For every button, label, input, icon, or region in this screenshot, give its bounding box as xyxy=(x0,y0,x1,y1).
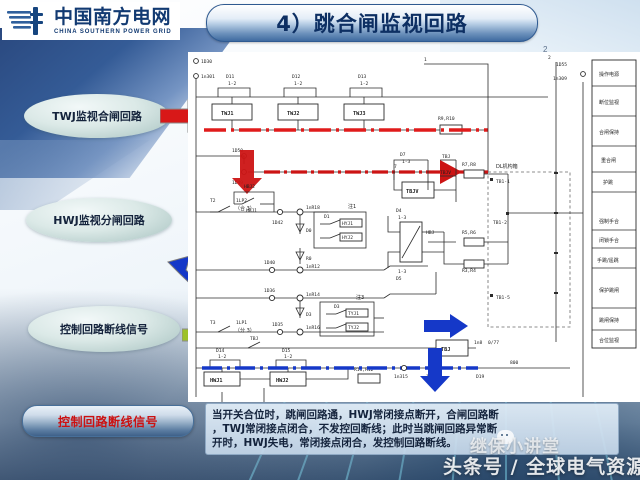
panel-item-6: 闭锁手合 xyxy=(599,237,619,244)
svg-text:R9,R10: R9,R10 xyxy=(438,116,455,122)
svg-text:D11: D11 xyxy=(226,74,235,80)
svg-text:R3,R4: R3,R4 xyxy=(462,268,476,274)
callout-twj: TWJ监视合闸回路 xyxy=(24,94,170,138)
note-line-1: 当开关合位时，跳闸回路通，HWJ常闭接点断开，合闸回路断 xyxy=(212,408,612,422)
svg-text:HBJ2: HBJ2 xyxy=(244,184,255,190)
svg-text:R7,R8: R7,R8 xyxy=(462,162,476,168)
svg-text:800: 800 xyxy=(510,360,519,366)
svg-text:D7: D7 xyxy=(400,152,406,158)
svg-text:TBJ: TBJ xyxy=(441,347,450,353)
svg-text:1n315: 1n315 xyxy=(394,374,408,380)
slide-title: 4）跳合闸监视回路 xyxy=(276,8,468,38)
svg-text:1nR16: 1nR16 xyxy=(306,325,320,331)
svg-text:TBJV: TBJV xyxy=(440,170,451,176)
panel-item-7: 手跳/遥跳 xyxy=(597,257,619,264)
svg-text:1-3: 1-3 xyxy=(402,159,411,165)
svg-text:1LP1: 1LP1 xyxy=(236,320,247,326)
svg-text:TB1-2: TB1-2 xyxy=(493,220,507,226)
svg-text:D0: D0 xyxy=(306,228,312,234)
svg-text:1n301: 1n301 xyxy=(201,74,215,80)
svg-text:7: 7 xyxy=(394,164,397,170)
svg-text:D1: D1 xyxy=(324,214,330,220)
callout-control-break-label: 控制回路断线信号 xyxy=(60,321,148,337)
svg-text:D19: D19 xyxy=(476,374,485,380)
svg-text:1D40: 1D40 xyxy=(264,260,275,266)
svg-text:1-3: 1-3 xyxy=(398,269,407,275)
svg-text:1D42: 1D42 xyxy=(272,220,283,226)
svg-text:TYJ1: TYJ1 xyxy=(348,311,359,317)
svg-text:1-3: 1-3 xyxy=(398,215,407,221)
brand-logo: 中国南方电网 CHINA SOUTHERN POWER GRID xyxy=(2,2,180,40)
svg-text:D13: D13 xyxy=(358,74,367,80)
svg-text:TBJ: TBJ xyxy=(250,336,259,342)
svg-text:（分 3）: （分 3） xyxy=(235,327,255,334)
svg-text:D14: D14 xyxy=(216,348,225,354)
svg-text:1LP2: 1LP2 xyxy=(236,198,247,204)
logo-text-en: CHINA SOUTHERN POWER GRID xyxy=(54,29,172,35)
svg-text:D15: D15 xyxy=(282,348,291,354)
panel-item-2: 合闸保持 xyxy=(599,129,619,136)
circuit-diagram: .w{stroke:#2b2b2b;stroke-width:0.8;fill:… xyxy=(188,52,640,402)
summary-banner: 控制回路断线信号 xyxy=(22,405,194,437)
svg-text:注1: 注1 xyxy=(348,203,356,210)
svg-text:D12: D12 xyxy=(292,74,301,80)
svg-text:1-2: 1-2 xyxy=(218,354,227,360)
svg-text:1nR14: 1nR14 xyxy=(306,292,320,298)
panel-item-1: 断位监视 xyxy=(599,99,619,106)
svg-text:0/77: 0/77 xyxy=(488,340,499,346)
slide-canvas: 中国南方电网 CHINA SOUTHERN POWER GRID 4）跳合闸监视… xyxy=(0,0,640,480)
panel-item-3: 重合闸 xyxy=(601,157,616,164)
callout-hwj: HWJ监视分闸回路 xyxy=(26,198,172,242)
watermark-channel: 头条号 / 全球电气资源 xyxy=(443,452,640,479)
circuit-diagram-svg: .w{stroke:#2b2b2b;stroke-width:0.8;fill:… xyxy=(188,52,640,402)
svg-text:1nR12: 1nR12 xyxy=(306,264,320,270)
svg-text:1D35: 1D35 xyxy=(272,322,283,328)
svg-text:2: 2 xyxy=(548,55,551,61)
svg-text:HYJ1: HYJ1 xyxy=(342,221,353,227)
svg-text:HBJ: HBJ xyxy=(426,230,435,236)
svg-text:1-2: 1-2 xyxy=(228,81,237,87)
logo-text-cn: 中国南方电网 xyxy=(54,8,172,27)
svg-text:TB1-5: TB1-5 xyxy=(496,295,510,301)
svg-text:1-2: 1-2 xyxy=(284,354,293,360)
svg-text:1D30: 1D30 xyxy=(201,59,212,65)
svg-text:TWJ3: TWJ3 xyxy=(353,111,366,117)
svg-text:TWJ2: TWJ2 xyxy=(287,111,300,117)
svg-text:1-2: 1-2 xyxy=(294,81,303,87)
svg-text:1D55: 1D55 xyxy=(556,62,567,68)
svg-text:TWJ1: TWJ1 xyxy=(221,111,234,117)
svg-text:R5,R6: R5,R6 xyxy=(462,230,476,236)
panel-item-8: 保护跳闸 xyxy=(599,287,619,294)
svg-text:1n8: 1n8 xyxy=(474,340,483,346)
svg-text:D5: D5 xyxy=(396,276,402,282)
svg-text:1n309: 1n309 xyxy=(553,76,567,82)
panel-item-9: 跳闸保持 xyxy=(599,317,619,324)
panel-item-10: 合位监视 xyxy=(599,337,619,344)
slide-title-banner: 4）跳合闸监视回路 xyxy=(206,4,538,42)
svg-text:1-2: 1-2 xyxy=(360,81,369,87)
svg-text:TBJV: TBJV xyxy=(406,189,419,195)
svg-text:TYJ2: TYJ2 xyxy=(348,325,359,331)
panel-item-0: 操作电源 xyxy=(599,71,619,78)
callout-hwj-label: HWJ监视分闸回路 xyxy=(53,212,144,228)
svg-text:TBJ: TBJ xyxy=(442,154,451,160)
callout-twj-label: TWJ监视合闸回路 xyxy=(52,108,142,124)
panel-item-4: 护跳 xyxy=(603,179,613,186)
svg-text:D4: D4 xyxy=(396,208,402,214)
svg-text:DL机构箱: DL机构箱 xyxy=(496,163,518,170)
svg-text:注3: 注3 xyxy=(356,294,364,301)
power-grid-logo-icon xyxy=(6,6,50,36)
svg-text:D3: D3 xyxy=(334,304,340,310)
panel-item-5: 强制手合 xyxy=(599,218,619,225)
callout-control-break: 控制回路断线信号 xyxy=(28,306,180,352)
svg-text:D3: D3 xyxy=(306,312,312,318)
svg-text:HYJ2: HYJ2 xyxy=(342,235,353,241)
svg-text:1D36: 1D36 xyxy=(264,288,275,294)
svg-text:HWJ2: HWJ2 xyxy=(276,378,289,384)
svg-text:T3: T3 xyxy=(210,320,216,326)
svg-text:R0: R0 xyxy=(306,256,312,262)
svg-text:1: 1 xyxy=(424,57,427,63)
svg-text:1nR18: 1nR18 xyxy=(306,205,320,211)
svg-text:（合 3）: （合 3） xyxy=(235,205,255,212)
svg-text:HWJ1: HWJ1 xyxy=(210,378,223,384)
svg-text:T2: T2 xyxy=(210,198,216,204)
summary-banner-label: 控制回路断线信号 xyxy=(58,413,158,430)
